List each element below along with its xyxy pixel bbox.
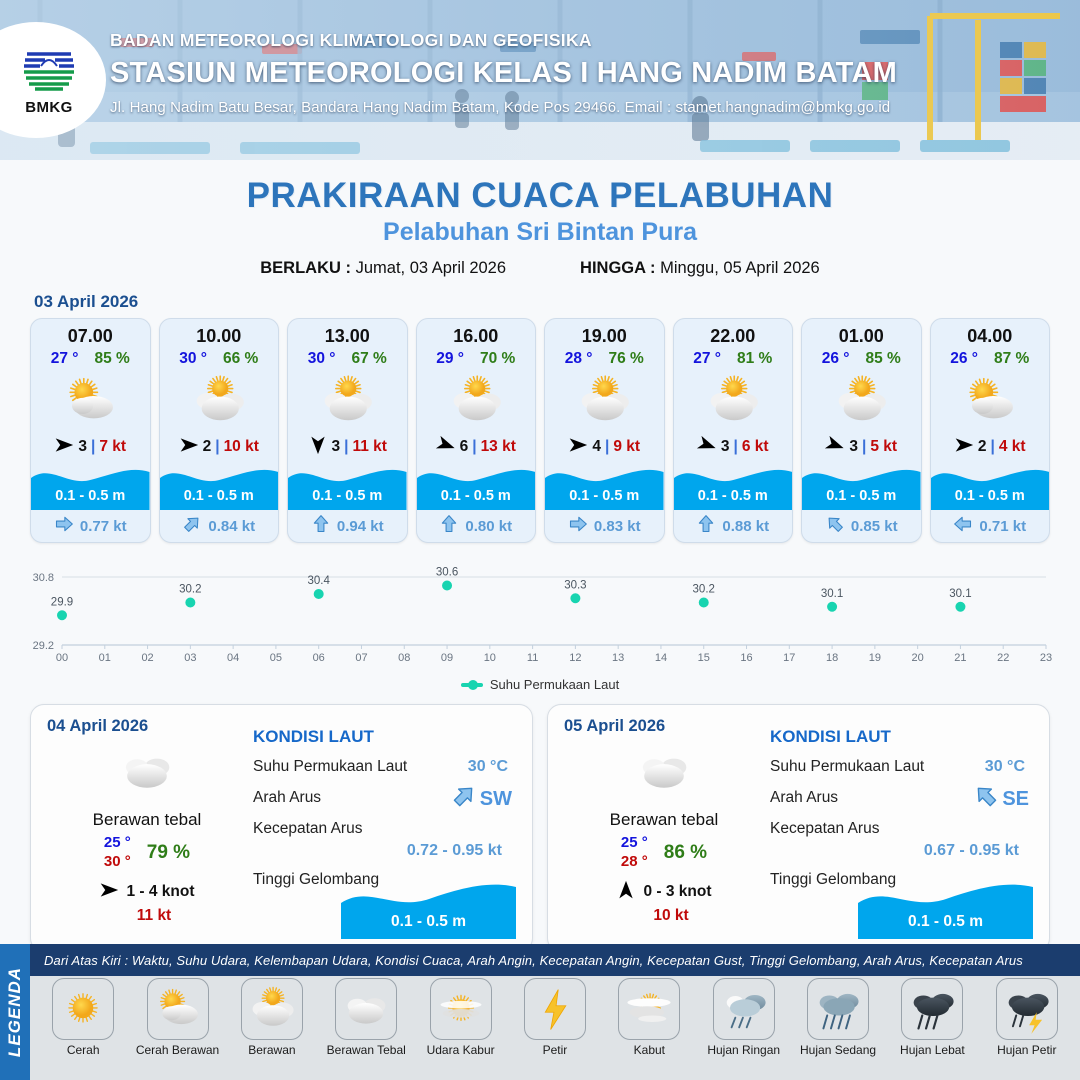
- svg-text:09: 09: [441, 652, 453, 664]
- hour-wind: 3 | 11 kt: [288, 432, 407, 462]
- legend-item-label: Hujan Lebat: [888, 1043, 976, 1057]
- legend-item: Hujan Petir: [983, 978, 1071, 1057]
- hour-wind: 6 | 13 kt: [417, 432, 536, 462]
- legend-item-label: Udara Kabur: [417, 1043, 505, 1057]
- hourly-card: 22.00 27 ° 81 % 3 | 6 kt 0.1 - 0.5 m 0.8…: [673, 318, 794, 543]
- day-temp-max: 30 °: [104, 853, 131, 872]
- legend-sidebar: LEGENDA: [0, 944, 30, 1080]
- svg-text:18: 18: [826, 652, 838, 664]
- hour-humidity: 85 %: [865, 350, 900, 368]
- weather-icon-hujan-sedang: [807, 978, 869, 1040]
- svg-text:06: 06: [313, 652, 325, 664]
- wave-height-value: 0.1 - 0.5 m: [417, 488, 536, 504]
- current-direction-arrow-icon: [568, 514, 588, 538]
- hourly-card: 01.00 26 ° 85 % 3 | 5 kt 0.1 - 0.5 m 0.8…: [801, 318, 922, 543]
- daily-forecast-panel: 04 April 2026 Berawan tebal 25 ° 30 ° 79…: [30, 704, 533, 952]
- wave-height-block: 0.1 - 0.5 m: [31, 464, 150, 510]
- svg-text:20: 20: [912, 652, 924, 664]
- hour-current: 0.83 kt: [545, 510, 664, 542]
- wind-speed: 2: [978, 438, 987, 456]
- legend-item-label: Kabut: [605, 1043, 693, 1057]
- svg-text:17: 17: [783, 652, 795, 664]
- current-speed-value: 0.72 - 0.95 kt: [253, 842, 516, 860]
- chart-legend-marker-icon: [461, 683, 483, 687]
- wave-height-block: 0.1 - 0.5 m: [417, 464, 536, 510]
- hour-current: 0.84 kt: [160, 510, 279, 542]
- hour-time: 07.00: [31, 319, 150, 347]
- wind-speed: 2: [203, 438, 212, 456]
- validity-row: BERLAKU : Jumat, 03 April 2026 HINGGA : …: [0, 259, 1080, 278]
- weather-icon-berawan: [288, 370, 407, 432]
- svg-text:01: 01: [99, 652, 111, 664]
- sea-conditions-title: KONDISI LAUT: [253, 727, 516, 747]
- day-condition: Berawan tebal: [47, 810, 247, 830]
- svg-text:23: 23: [1040, 652, 1052, 664]
- current-direction-arrow-icon: [439, 514, 459, 538]
- hour-current: 0.77 kt: [31, 510, 150, 542]
- weather-icon-hujan-lebat: [901, 978, 963, 1040]
- sst-row: Suhu Permukaan Laut 30 °C: [770, 756, 1033, 778]
- svg-text:04: 04: [227, 652, 239, 664]
- svg-text:30.8: 30.8: [33, 572, 54, 584]
- current-speed: 0.80 kt: [465, 518, 512, 535]
- hour-wind: 2 | 10 kt: [160, 432, 279, 462]
- wind-gust: 11 kt: [352, 438, 386, 456]
- current-direction-row: Arah Arus SE: [770, 787, 1033, 809]
- legend-item-label: Berawan Tebal: [322, 1043, 410, 1057]
- svg-text:13: 13: [612, 652, 624, 664]
- day-date: 05 April 2026: [564, 717, 764, 736]
- svg-text:16: 16: [740, 652, 752, 664]
- hour-wind: 3 | 6 kt: [674, 432, 793, 462]
- svg-text:22: 22: [997, 652, 1009, 664]
- current-speed-row: Kecepatan Arus: [770, 818, 1033, 840]
- wave-height-block: 0.1 - 0.5 m: [802, 464, 921, 510]
- svg-text:08: 08: [398, 652, 410, 664]
- bmkg-logo-label: BMKG: [21, 99, 77, 116]
- weather-icon-berawan: [545, 370, 664, 432]
- day-wind: 1 - 4 knot: [47, 880, 247, 905]
- wave-height-value: 0.1 - 0.5 m: [802, 488, 921, 504]
- svg-text:30.2: 30.2: [179, 584, 201, 596]
- hour-humidity: 67 %: [351, 350, 386, 368]
- wind-separator: |: [734, 438, 738, 456]
- weather-icon-petir: [524, 978, 586, 1040]
- svg-text:29.9: 29.9: [51, 596, 73, 608]
- current-direction-value: SW: [451, 783, 512, 815]
- wind-direction-arrow-icon: [54, 435, 74, 460]
- valid-to-value: Minggu, 05 April 2026: [660, 259, 820, 277]
- legend-item-label: Cerah: [39, 1043, 127, 1057]
- hourly-card: 19.00 28 ° 76 % 4 | 9 kt 0.1 - 0.5 m 0.8…: [544, 318, 665, 543]
- wave-height-block: 0.1 - 0.5 m: [674, 464, 793, 510]
- weather-icon-berawan-tebal: [335, 978, 397, 1040]
- wind-speed: 6: [460, 438, 469, 456]
- hour-humidity: 70 %: [480, 350, 515, 368]
- day-date: 04 April 2026: [47, 717, 247, 736]
- hourly-card: 04.00 26 ° 87 % 2 | 4 kt 0.1 - 0.5 m 0.7…: [930, 318, 1051, 543]
- legend-item-label: Hujan Ringan: [700, 1043, 788, 1057]
- hourly-card: 16.00 29 ° 70 % 6 | 13 kt 0.1 - 0.5 m 0.…: [416, 318, 537, 543]
- wind-direction-arrow-icon: [179, 435, 199, 460]
- current-direction-arrow-icon: [973, 783, 999, 815]
- wind-speed: 3: [721, 438, 730, 456]
- day-wind: 0 - 3 knot: [564, 880, 764, 905]
- day-humidity: 86 %: [664, 842, 707, 864]
- legend-note: Dari Atas Kiri : Waktu, Suhu Udara, Kele…: [30, 944, 1080, 976]
- hour-time: 16.00: [417, 319, 536, 347]
- wind-separator: |: [991, 438, 995, 456]
- hour-time: 01.00: [802, 319, 921, 347]
- weather-icon-cerah-berawan: [931, 370, 1050, 432]
- current-direction-arrow-icon: [953, 514, 973, 538]
- hour-humidity: 85 %: [94, 350, 129, 368]
- wave-height-block: 0.1 - 0.5 m: [545, 464, 664, 510]
- page-title: PRAKIRAAN CUACA PELABUHAN: [0, 176, 1080, 216]
- sst-chart-svg: 30.829.200010203040506070809101112131415…: [22, 561, 1058, 671]
- hour-temperature: 27 °: [51, 350, 79, 368]
- wave-height-block: 0.1 - 0.5 m: [288, 464, 407, 510]
- station-name: STASIUN METEOROLOGI KELAS I HANG NADIM B…: [110, 57, 1040, 90]
- hour-wind: 2 | 4 kt: [931, 432, 1050, 462]
- current-speed: 0.83 kt: [594, 518, 641, 535]
- wind-direction-arrow-icon: [697, 435, 717, 460]
- wave-height-value: 0.1 - 0.5 m: [931, 488, 1050, 504]
- wave-height-block: 0.1 - 0.5 m: [160, 464, 279, 510]
- current-direction-arrow-icon: [182, 514, 202, 538]
- wind-gust: 5 kt: [870, 438, 897, 456]
- day-wind-range: 0 - 3 knot: [643, 883, 711, 901]
- svg-text:19: 19: [869, 652, 881, 664]
- wind-direction-arrow-icon: [616, 880, 636, 905]
- daily-forecast-row: 04 April 2026 Berawan tebal 25 ° 30 ° 79…: [0, 692, 1080, 952]
- wind-gust: 13 kt: [481, 438, 516, 456]
- forecast-date-label: 03 April 2026: [34, 292, 1080, 312]
- legend-item: Udara Kabur: [417, 978, 505, 1057]
- svg-text:21: 21: [954, 652, 966, 664]
- current-speed: 0.84 kt: [208, 518, 255, 535]
- weather-icon-udara-kabur: [430, 978, 492, 1040]
- sst-row: Suhu Permukaan Laut 30 °C: [253, 756, 516, 778]
- current-direction-abbr: SE: [1002, 788, 1029, 811]
- svg-text:03: 03: [184, 652, 196, 664]
- hourly-card: 13.00 30 ° 67 % 3 | 11 kt 0.1 - 0.5 m 0.…: [287, 318, 408, 543]
- current-direction-arrow-icon: [825, 514, 845, 538]
- station-address: Jl. Hang Nadim Batu Besar, Bandara Hang …: [110, 99, 1040, 116]
- day-temperatures: 25 ° 28 °: [621, 834, 648, 872]
- current-direction-arrow-icon: [311, 514, 331, 538]
- wave-height-value: 0.1 - 0.5 m: [545, 488, 664, 504]
- svg-text:07: 07: [355, 652, 367, 664]
- current-speed: 0.94 kt: [337, 518, 384, 535]
- legend-item-label: Cerah Berawan: [134, 1043, 222, 1057]
- hour-humidity: 76 %: [608, 350, 643, 368]
- weather-icon-berawan: [802, 370, 921, 432]
- hour-humidity: 66 %: [223, 350, 258, 368]
- wind-direction-arrow-icon: [954, 435, 974, 460]
- svg-text:05: 05: [270, 652, 282, 664]
- legend-items: Cerah Cerah Berawan Berawan Berawan Teba…: [30, 978, 1080, 1078]
- current-speed-label: Kecepatan Arus: [770, 820, 879, 838]
- hour-time: 19.00: [545, 319, 664, 347]
- wind-direction-arrow-icon: [436, 435, 456, 460]
- day-summary: 05 April 2026 Berawan tebal 25 ° 28 ° 86…: [564, 717, 764, 941]
- hourly-card: 10.00 30 ° 66 % 2 | 10 kt 0.1 - 0.5 m 0.…: [159, 318, 280, 543]
- svg-text:30.1: 30.1: [821, 588, 843, 600]
- hour-wind: 4 | 9 kt: [545, 432, 664, 462]
- agency-name: BADAN METEOROLOGI KLIMATOLOGI DAN GEOFIS…: [110, 30, 1040, 51]
- day-wave-graphic: 0.1 - 0.5 m: [858, 881, 1033, 939]
- weather-icon-berawan: [674, 370, 793, 432]
- wind-separator: |: [91, 438, 95, 456]
- wave-height-value: 0.1 - 0.5 m: [288, 488, 407, 504]
- current-direction-label: Arah Arus: [253, 789, 321, 807]
- hour-temperature: 26 °: [950, 350, 978, 368]
- sea-conditions-title: KONDISI LAUT: [770, 727, 1033, 747]
- hour-temperature: 30 °: [179, 350, 207, 368]
- legend-item: Cerah: [39, 978, 127, 1057]
- hour-wind: 3 | 5 kt: [802, 432, 921, 462]
- day-condition: Berawan tebal: [564, 810, 764, 830]
- legend-item-label: Berawan: [228, 1043, 316, 1057]
- wind-separator: |: [862, 438, 866, 456]
- wind-direction-arrow-icon: [568, 435, 588, 460]
- hour-temperature: 30 °: [308, 350, 336, 368]
- svg-text:00: 00: [56, 652, 68, 664]
- wind-gust: 4 kt: [999, 438, 1026, 456]
- day-temperatures: 25 ° 30 °: [104, 834, 131, 872]
- day-humidity: 79 %: [147, 842, 190, 864]
- legend-item: Berawan: [228, 978, 316, 1057]
- weather-icon-berawan: [160, 370, 279, 432]
- day-temp-min: 25 °: [621, 834, 648, 853]
- wind-separator: |: [344, 438, 348, 456]
- current-speed: 0.88 kt: [722, 518, 769, 535]
- wind-gust: 6 kt: [742, 438, 769, 456]
- svg-text:15: 15: [698, 652, 710, 664]
- hour-current: 0.88 kt: [674, 510, 793, 542]
- chart-legend: Suhu Permukaan Laut: [0, 677, 1080, 692]
- weather-icon-berawan-tebal: [47, 740, 247, 802]
- legend-item: Hujan Sedang: [794, 978, 882, 1057]
- hourly-forecast-row: 07.00 27 ° 85 % 3 | 7 kt 0.1 - 0.5 m 0.7…: [0, 318, 1080, 543]
- chart-legend-label: Suhu Permukaan Laut: [490, 677, 619, 692]
- current-speed-value: 0.67 - 0.95 kt: [770, 842, 1033, 860]
- hour-wind: 3 | 7 kt: [31, 432, 150, 462]
- bmkg-emblem-icon: [21, 44, 77, 96]
- wind-gust: 7 kt: [99, 438, 126, 456]
- hour-time: 10.00: [160, 319, 279, 347]
- day-temp-max: 28 °: [621, 853, 648, 872]
- hour-current: 0.80 kt: [417, 510, 536, 542]
- legend-item: Berawan Tebal: [322, 978, 410, 1057]
- legend-item: Cerah Berawan: [134, 978, 222, 1057]
- weather-icon-cerah-berawan: [31, 370, 150, 432]
- weather-icon-cerah: [52, 978, 114, 1040]
- valid-from-label: BERLAKU :: [260, 259, 351, 277]
- wind-separator: |: [215, 438, 219, 456]
- current-speed-label: Kecepatan Arus: [253, 820, 362, 838]
- wind-speed: 3: [332, 438, 341, 456]
- sst-value: 30 °C: [468, 758, 508, 776]
- current-speed: 0.85 kt: [851, 518, 898, 535]
- current-direction-arrow-icon: [696, 514, 716, 538]
- wind-separator: |: [605, 438, 609, 456]
- day-wave-graphic: 0.1 - 0.5 m: [341, 881, 516, 939]
- current-direction-arrow-icon: [54, 514, 74, 538]
- sst-chart: 30.829.200010203040506070809101112131415…: [22, 561, 1058, 671]
- valid-to: HINGGA : Minggu, 05 April 2026: [580, 259, 820, 278]
- legend-item-label: Petir: [511, 1043, 599, 1057]
- wave-height-value: 0.1 - 0.5 m: [31, 488, 150, 504]
- valid-to-label: HINGGA :: [580, 259, 655, 277]
- current-speed: 0.71 kt: [979, 518, 1026, 535]
- wind-gust: 10 kt: [224, 438, 259, 456]
- svg-text:14: 14: [655, 652, 667, 664]
- weather-icon-berawan: [417, 370, 536, 432]
- current-speed: 0.77 kt: [80, 518, 127, 535]
- daily-forecast-panel: 05 April 2026 Berawan tebal 25 ° 28 ° 86…: [547, 704, 1050, 952]
- day-wind-range: 1 - 4 knot: [126, 883, 194, 901]
- legend-item-label: Hujan Sedang: [794, 1043, 882, 1057]
- legend-item: Hujan Ringan: [700, 978, 788, 1057]
- legend-sidebar-label: LEGENDA: [5, 967, 25, 1057]
- title-block: PRAKIRAAN CUACA PELABUHAN Pelabuhan Sri …: [0, 176, 1080, 278]
- sst-value: 30 °C: [985, 758, 1025, 776]
- svg-text:11: 11: [527, 652, 538, 664]
- legend-footer: LEGENDA Dari Atas Kiri : Waktu, Suhu Uda…: [0, 944, 1080, 1080]
- current-direction-label: Arah Arus: [770, 789, 838, 807]
- legend-item: Petir: [511, 978, 599, 1057]
- weather-icon-hujan-petir: [996, 978, 1058, 1040]
- weather-icon-hujan-ringan: [713, 978, 775, 1040]
- day-summary: 04 April 2026 Berawan tebal 25 ° 30 ° 79…: [47, 717, 247, 941]
- svg-text:10: 10: [484, 652, 496, 664]
- svg-text:30.2: 30.2: [693, 584, 715, 596]
- hour-current: 0.71 kt: [931, 510, 1050, 542]
- hour-temperature: 29 °: [436, 350, 464, 368]
- hour-humidity: 81 %: [737, 350, 772, 368]
- hourly-card: 07.00 27 ° 85 % 3 | 7 kt 0.1 - 0.5 m 0.7…: [30, 318, 151, 543]
- current-direction-row: Arah Arus SW: [253, 787, 516, 809]
- day-temp-min: 25 °: [104, 834, 131, 853]
- wind-separator: |: [472, 438, 476, 456]
- wind-speed: 4: [592, 438, 601, 456]
- current-direction-arrow-icon: [451, 783, 477, 815]
- svg-text:29.2: 29.2: [33, 640, 54, 652]
- weather-icon-cerah-berawan: [147, 978, 209, 1040]
- hour-temperature: 27 °: [693, 350, 721, 368]
- weather-icon-kabut: [618, 978, 680, 1040]
- legend-item: Hujan Lebat: [888, 978, 976, 1057]
- svg-text:30.1: 30.1: [949, 588, 971, 600]
- day-gust: 11 kt: [61, 907, 247, 925]
- hour-time: 22.00: [674, 319, 793, 347]
- wind-direction-arrow-icon: [308, 435, 328, 460]
- svg-text:30.4: 30.4: [308, 575, 331, 587]
- current-direction-abbr: SW: [480, 788, 512, 811]
- wind-direction-arrow-icon: [825, 435, 845, 460]
- page-header: BMKG BADAN METEOROLOGI KLIMATOLOGI DAN G…: [0, 0, 1080, 160]
- hour-time: 13.00: [288, 319, 407, 347]
- sst-label: Suhu Permukaan Laut: [770, 758, 924, 776]
- svg-text:30.3: 30.3: [564, 579, 586, 591]
- legend-item: Kabut: [605, 978, 693, 1057]
- current-speed-row: Kecepatan Arus: [253, 818, 516, 840]
- hour-temperature: 26 °: [822, 350, 850, 368]
- hour-humidity: 87 %: [994, 350, 1029, 368]
- wind-speed: 3: [78, 438, 87, 456]
- day-wave-value: 0.1 - 0.5 m: [341, 913, 516, 931]
- svg-text:02: 02: [141, 652, 153, 664]
- current-direction-value: SE: [973, 783, 1029, 815]
- day-wave-value: 0.1 - 0.5 m: [858, 913, 1033, 931]
- port-name: Pelabuhan Sri Bintan Pura: [0, 218, 1080, 247]
- hour-time: 04.00: [931, 319, 1050, 347]
- valid-from: BERLAKU : Jumat, 03 April 2026: [260, 259, 506, 278]
- sst-label: Suhu Permukaan Laut: [253, 758, 407, 776]
- wave-height-value: 0.1 - 0.5 m: [160, 488, 279, 504]
- wind-speed: 3: [849, 438, 858, 456]
- wave-height-block: 0.1 - 0.5 m: [931, 464, 1050, 510]
- legend-item-label: Hujan Petir: [983, 1043, 1071, 1057]
- wind-direction-arrow-icon: [99, 880, 119, 905]
- valid-from-value: Jumat, 03 April 2026: [356, 259, 506, 277]
- wind-gust: 9 kt: [613, 438, 640, 456]
- day-gust: 10 kt: [578, 907, 764, 925]
- svg-text:12: 12: [569, 652, 581, 664]
- sea-conditions: KONDISI LAUT Suhu Permukaan Laut 30 °C A…: [764, 717, 1033, 941]
- hour-current: 0.94 kt: [288, 510, 407, 542]
- weather-icon-berawan-tebal: [564, 740, 764, 802]
- weather-icon-berawan: [241, 978, 303, 1040]
- hour-temperature: 28 °: [565, 350, 593, 368]
- hour-current: 0.85 kt: [802, 510, 921, 542]
- svg-text:30.6: 30.6: [436, 567, 458, 579]
- wave-height-value: 0.1 - 0.5 m: [674, 488, 793, 504]
- sea-conditions: KONDISI LAUT Suhu Permukaan Laut 30 °C A…: [247, 717, 516, 941]
